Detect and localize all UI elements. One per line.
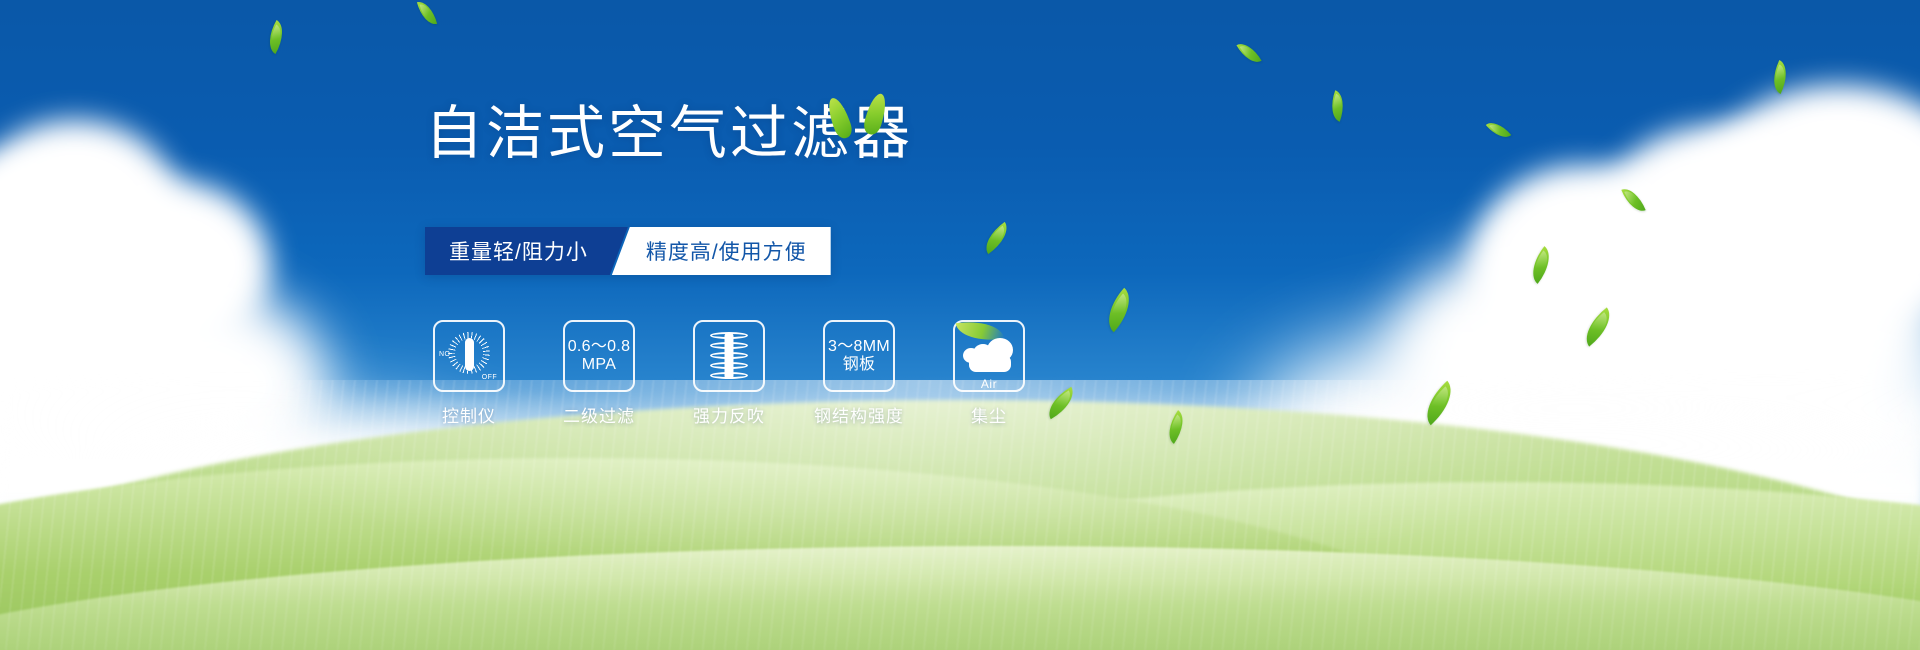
feature-label: 控制仪: [442, 402, 496, 427]
cloud-base-icon: [969, 355, 1011, 372]
ground-shadow: [0, 580, 1920, 650]
title-leaf-decoration: [825, 93, 905, 143]
banner-content: 自洁式空气过滤器 重量轻/阻力小 精度高/使用方便 NO OFF: [425, 105, 1125, 163]
feature-item-dust-collection[interactable]: Air 集尘: [945, 320, 1033, 427]
tagline-badges: 重量轻/阻力小 精度高/使用方便: [425, 227, 831, 275]
title-leaf-right-icon: [862, 91, 890, 136]
filter-disc-icon: [710, 362, 748, 369]
cloud-air-icon: Air: [961, 334, 1017, 378]
gauge-icon: NO OFF: [441, 330, 497, 382]
air-label: Air: [961, 377, 1017, 391]
feature-label: 二级过滤: [563, 402, 635, 427]
filter-stack-icon: [703, 330, 755, 382]
hero-banner: 自洁式空气过滤器 重量轻/阻力小 精度高/使用方便 NO OFF: [0, 0, 1920, 650]
badge-weight-resistance[interactable]: 重量轻/阻力小: [425, 227, 628, 275]
title-leaf-left-icon: [824, 95, 854, 140]
feature-box: [693, 320, 765, 392]
feature-item-strong-blowback[interactable]: 强力反吹: [685, 320, 773, 427]
page-title: 自洁式空气过滤器: [425, 105, 1125, 163]
feature-box: NO OFF: [433, 320, 505, 392]
feature-box: 3～8MM 钢板: [823, 320, 895, 392]
feature-item-controller[interactable]: NO OFF 控制仪: [425, 320, 513, 427]
feature-box: Air: [953, 320, 1025, 392]
feature-label: 强力反吹: [693, 402, 765, 427]
filter-disc-icon: [710, 352, 748, 359]
feature-label: 钢结构强度: [814, 402, 904, 427]
feature-item-secondary-filtration[interactable]: 0.6～0.8 MPA 二级过滤: [555, 320, 643, 427]
gauge-no-label: NO: [439, 351, 450, 358]
filter-disc-icon: [710, 342, 748, 349]
badge-precision-ease[interactable]: 精度高/使用方便: [612, 227, 831, 275]
feature-list: NO OFF 控制仪 0.6～0.8 MPA 二级过滤: [425, 320, 1033, 427]
feature-item-steel-strength[interactable]: 3～8MM 钢板 钢结构强度: [815, 320, 903, 427]
filter-disc-icon: [710, 332, 748, 339]
filter-disc-icon: [710, 372, 748, 379]
feature-label: 集尘: [971, 402, 1007, 427]
pressure-text-icon: 0.6～0.8 MPA: [568, 338, 631, 374]
feature-box: 0.6～0.8 MPA: [563, 320, 635, 392]
steel-plate-text-icon: 3～8MM 钢板: [828, 338, 890, 374]
gauge-off-label: OFF: [482, 374, 497, 381]
gauge-needle-icon: [465, 338, 474, 371]
